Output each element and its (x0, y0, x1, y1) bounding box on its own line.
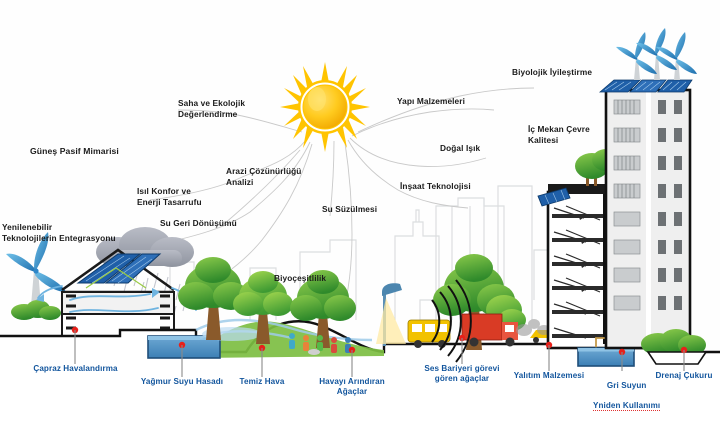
label-yapi-malzemeleri: Yapı Malzemeleri (397, 96, 465, 107)
label-havayi-arindiran-agaclar: Havayı Arındıran Ağaçlar (302, 377, 402, 397)
street-lamp-icon (376, 283, 406, 346)
label-saha-ve-ekolojik: Saha ve Ekolojik Değerlendirme (178, 98, 245, 119)
label-su-suzulmesi: Su Süzülmesi (322, 204, 377, 215)
label-arazi-cozunurlugu: Arazi Çözünürlüğü Analizi (226, 166, 301, 187)
sun-icon (280, 62, 370, 152)
shrub-icon (11, 300, 61, 320)
label-insaat-teknolojisi: İnşaat Teknolojisi (400, 181, 471, 192)
label-drenaj-cukuru: Drenaj Çukuru (644, 371, 720, 381)
label-biyolojik-iyilestirme: Biyolojik İyileştirme (512, 67, 592, 78)
label-yenilenebilir-teknolojiler: Yenilenebilir Teknolojilerin Entegrasyon… (2, 222, 116, 243)
label-yagmur-suyu-hasadi: Yağmur Suyu Hasadı (127, 377, 237, 387)
label-gunes-pasif-mimarisi: Güneş Pasif Mimarisi (30, 146, 119, 157)
wind-turbine-icon (616, 28, 697, 80)
infographic-canvas: Güneş Pasif Mimarisi Yenilenebilir Tekno… (0, 0, 720, 427)
greywater-line2: Yniden Kullanımı (593, 401, 660, 411)
label-dogal-isik: Doğal Işık (440, 143, 480, 154)
greywater-line1: Gri Suyun (607, 381, 647, 390)
tower-building-icon (600, 28, 697, 348)
label-temiz-hava: Temiz Hava (222, 377, 302, 387)
label-su-geri-donusumu: Su Geri Dönüşümü (160, 218, 237, 229)
solar-panel-icon (600, 80, 692, 92)
label-capraz-havalandirma: Çapraz Havalandırma (18, 364, 133, 374)
greywater-tank-icon (578, 348, 634, 366)
label-ic-mekan-cevre: İç Mekan Çevre Kalitesi (528, 124, 590, 145)
label-biyocesitlilik: Biyoçeşitlilik (274, 273, 326, 284)
label-isil-konfor: Isıl Konfor ve Enerji Tasarrufu (137, 186, 202, 207)
